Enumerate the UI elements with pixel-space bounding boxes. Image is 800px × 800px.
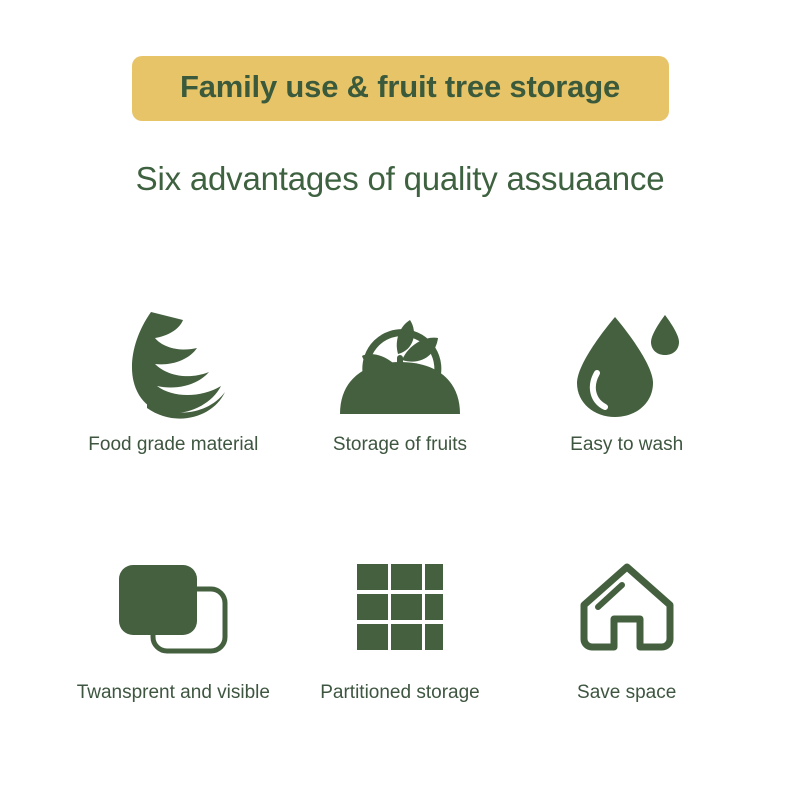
feature-label: Partitioned storage xyxy=(320,682,480,704)
feature-label: Food grade material xyxy=(88,434,258,456)
house-icon xyxy=(578,544,676,674)
feature-item: Save space xyxy=(513,544,740,738)
subtitle-container: Six advantages of quality assuaance xyxy=(0,160,800,198)
feature-grid: Food grade material Storage of fruits xyxy=(60,296,740,738)
feature-item: Food grade material xyxy=(60,296,287,490)
stacked-boxes-icon xyxy=(113,544,233,674)
feature-item: Partitioned storage xyxy=(287,544,514,738)
banner-container: Family use & fruit tree storage xyxy=(0,56,800,121)
feature-label: Save space xyxy=(577,682,676,704)
grid-partition-icon xyxy=(357,544,443,674)
feature-label: Twansprent and visible xyxy=(77,682,270,704)
headline-banner: Family use & fruit tree storage xyxy=(132,56,669,121)
water-drop-icon xyxy=(573,296,681,426)
leaf-icon xyxy=(117,296,229,426)
feature-label: Easy to wash xyxy=(570,434,683,456)
sprout-mound-icon xyxy=(336,296,464,426)
feature-item: Storage of fruits xyxy=(287,296,514,490)
banner-title: Family use & fruit tree storage xyxy=(160,69,641,105)
page-subtitle: Six advantages of quality assuaance xyxy=(0,160,800,198)
feature-item: Twansprent and visible xyxy=(60,544,287,738)
feature-label: Storage of fruits xyxy=(333,434,467,456)
feature-item: Easy to wash xyxy=(513,296,740,490)
